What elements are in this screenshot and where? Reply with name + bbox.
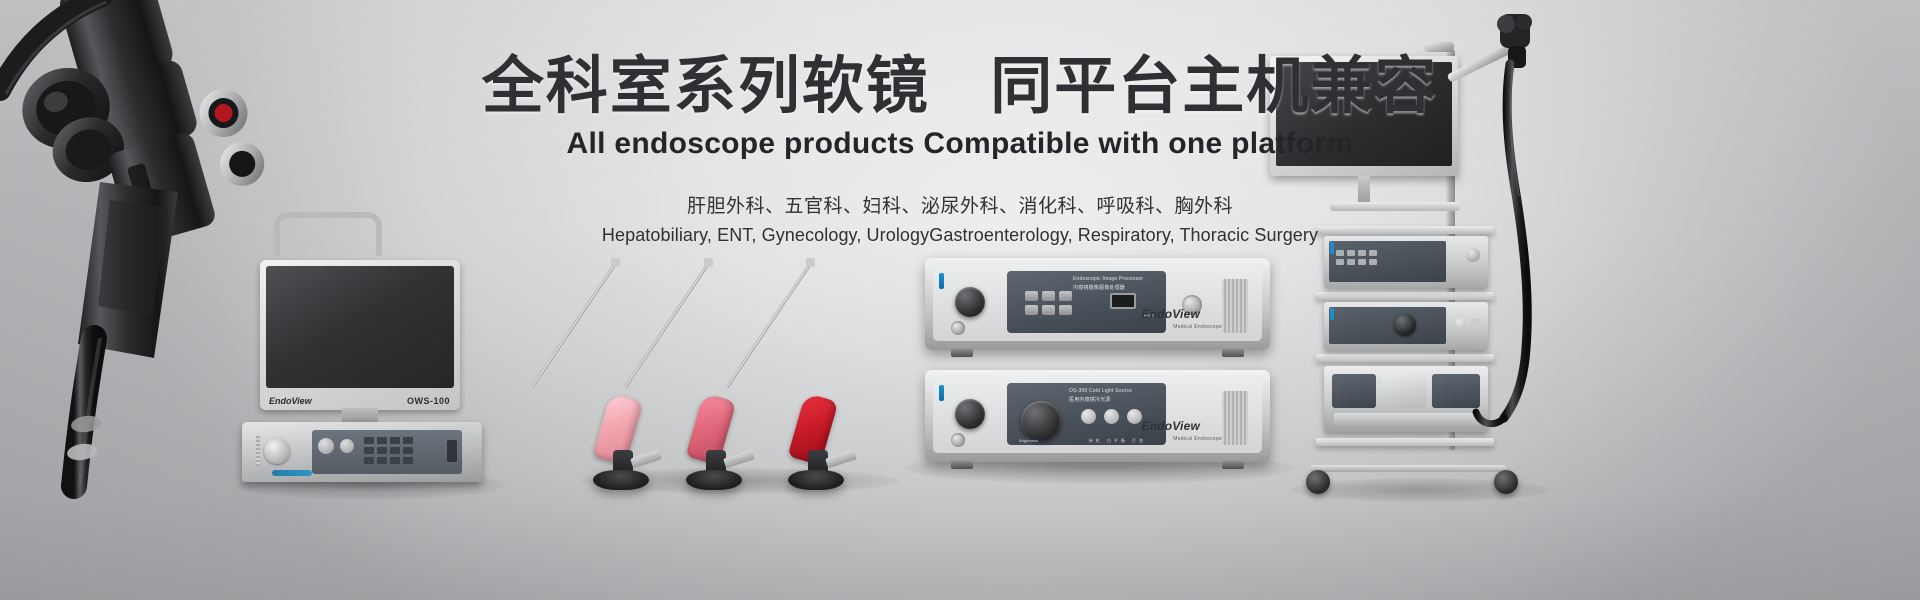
- vent-grille: [1222, 279, 1248, 333]
- unit-front-face: Endoscopic Image Processor 内窥镜摄像图像处理器 MO…: [933, 265, 1262, 341]
- sub-device-1: [1332, 374, 1376, 408]
- headline-part-2: 同平台主机兼容: [990, 52, 1438, 121]
- headline: 全科室系列软镜 同平台主机兼容: [0, 52, 1920, 121]
- control-panel: [312, 430, 462, 474]
- unit-brand-sub: Medical Endoscope: [1173, 324, 1222, 330]
- vent-grille: [1222, 391, 1248, 445]
- main-knob[interactable]: [955, 287, 985, 317]
- instrument-tip: [806, 258, 815, 267]
- brightness-knob[interactable]: [1021, 401, 1061, 441]
- dark-control-panel: Endoscopic Image Processor 内窥镜摄像图像处理器 MO…: [1007, 271, 1166, 333]
- power-led: [939, 385, 944, 401]
- unit-brand: EndoView: [1142, 419, 1201, 433]
- keypad[interactable]: [364, 437, 413, 464]
- device-model-label: OWS-100: [407, 396, 450, 406]
- brightness-label: Brightness: [1019, 438, 1038, 443]
- instrument-shaft: [725, 261, 812, 389]
- cold-light-source-unit: OS-300 Cold Light Source 医用内窥镜冷光源 Bright…: [925, 370, 1270, 462]
- image-processor-unit: Endoscopic Image Processor 内窥镜摄像图像处理器 MO…: [925, 258, 1270, 350]
- function-buttons[interactable]: [1081, 409, 1142, 424]
- button-grid[interactable]: [1025, 291, 1072, 315]
- unit-brand: EndoView: [1142, 307, 1201, 321]
- panel-title-cn: 医用内窥镜冷光源: [1069, 396, 1111, 403]
- instrument-jaw: [825, 450, 857, 469]
- panel-dial[interactable]: [318, 438, 334, 454]
- side-slot: [447, 440, 457, 462]
- device-led: [1330, 308, 1334, 320]
- cart-base: [1310, 465, 1506, 472]
- panel-title-en: OS-300 Cold Light Source: [1069, 388, 1132, 394]
- specialties-english: Hepatobiliary, ENT, Gynecology, UrologyG…: [0, 225, 1920, 246]
- instrument-stand: [788, 470, 844, 490]
- cart-caster-right: [1494, 470, 1518, 494]
- specialties-chinese: 肝胆外科、五官科、妇科、泌尿外科、消化科、呼吸科、胸外科: [0, 191, 1920, 218]
- unit-brand-sub: Medical Endoscope: [1173, 436, 1222, 442]
- unit-front-face: OS-300 Cold Light Source 医用内窥镜冷光源 Bright…: [933, 377, 1262, 453]
- power-led: [939, 273, 944, 289]
- light-guide-port[interactable]: [951, 433, 965, 447]
- button-captions: 待机 白平衡 灯泡: [1089, 438, 1146, 444]
- banner-text-block: 全科室系列软镜 同平台主机兼容 All endoscope products C…: [0, 52, 1920, 246]
- cart-shelf: [1316, 438, 1494, 446]
- laparoscopic-instrument-3: [700, 258, 870, 493]
- device-big-knob[interactable]: [1394, 314, 1416, 336]
- connector-port[interactable]: [951, 321, 965, 335]
- subheadline: All endoscope products Compatible with o…: [0, 127, 1920, 161]
- panel-title-cn: 内窥镜摄像图像处理器: [1073, 284, 1125, 291]
- cart-caster-left: [1306, 470, 1330, 494]
- instrument-shaft: [623, 261, 710, 389]
- processor-stack: Endoscopic Image Processor 内窥镜摄像图像处理器 MO…: [925, 258, 1270, 466]
- product-banner: EndoView OWS-100: [0, 0, 1920, 600]
- panel-title-en: Endoscopic Image Processor: [1073, 276, 1143, 282]
- main-knob[interactable]: [955, 399, 985, 429]
- headline-part-1: 全科室系列软镜: [482, 52, 930, 121]
- dark-control-panel: OS-300 Cold Light Source 医用内窥镜冷光源 Bright…: [1007, 383, 1166, 445]
- panel-dial-2[interactable]: [340, 439, 354, 453]
- usb-port[interactable]: [1110, 293, 1136, 309]
